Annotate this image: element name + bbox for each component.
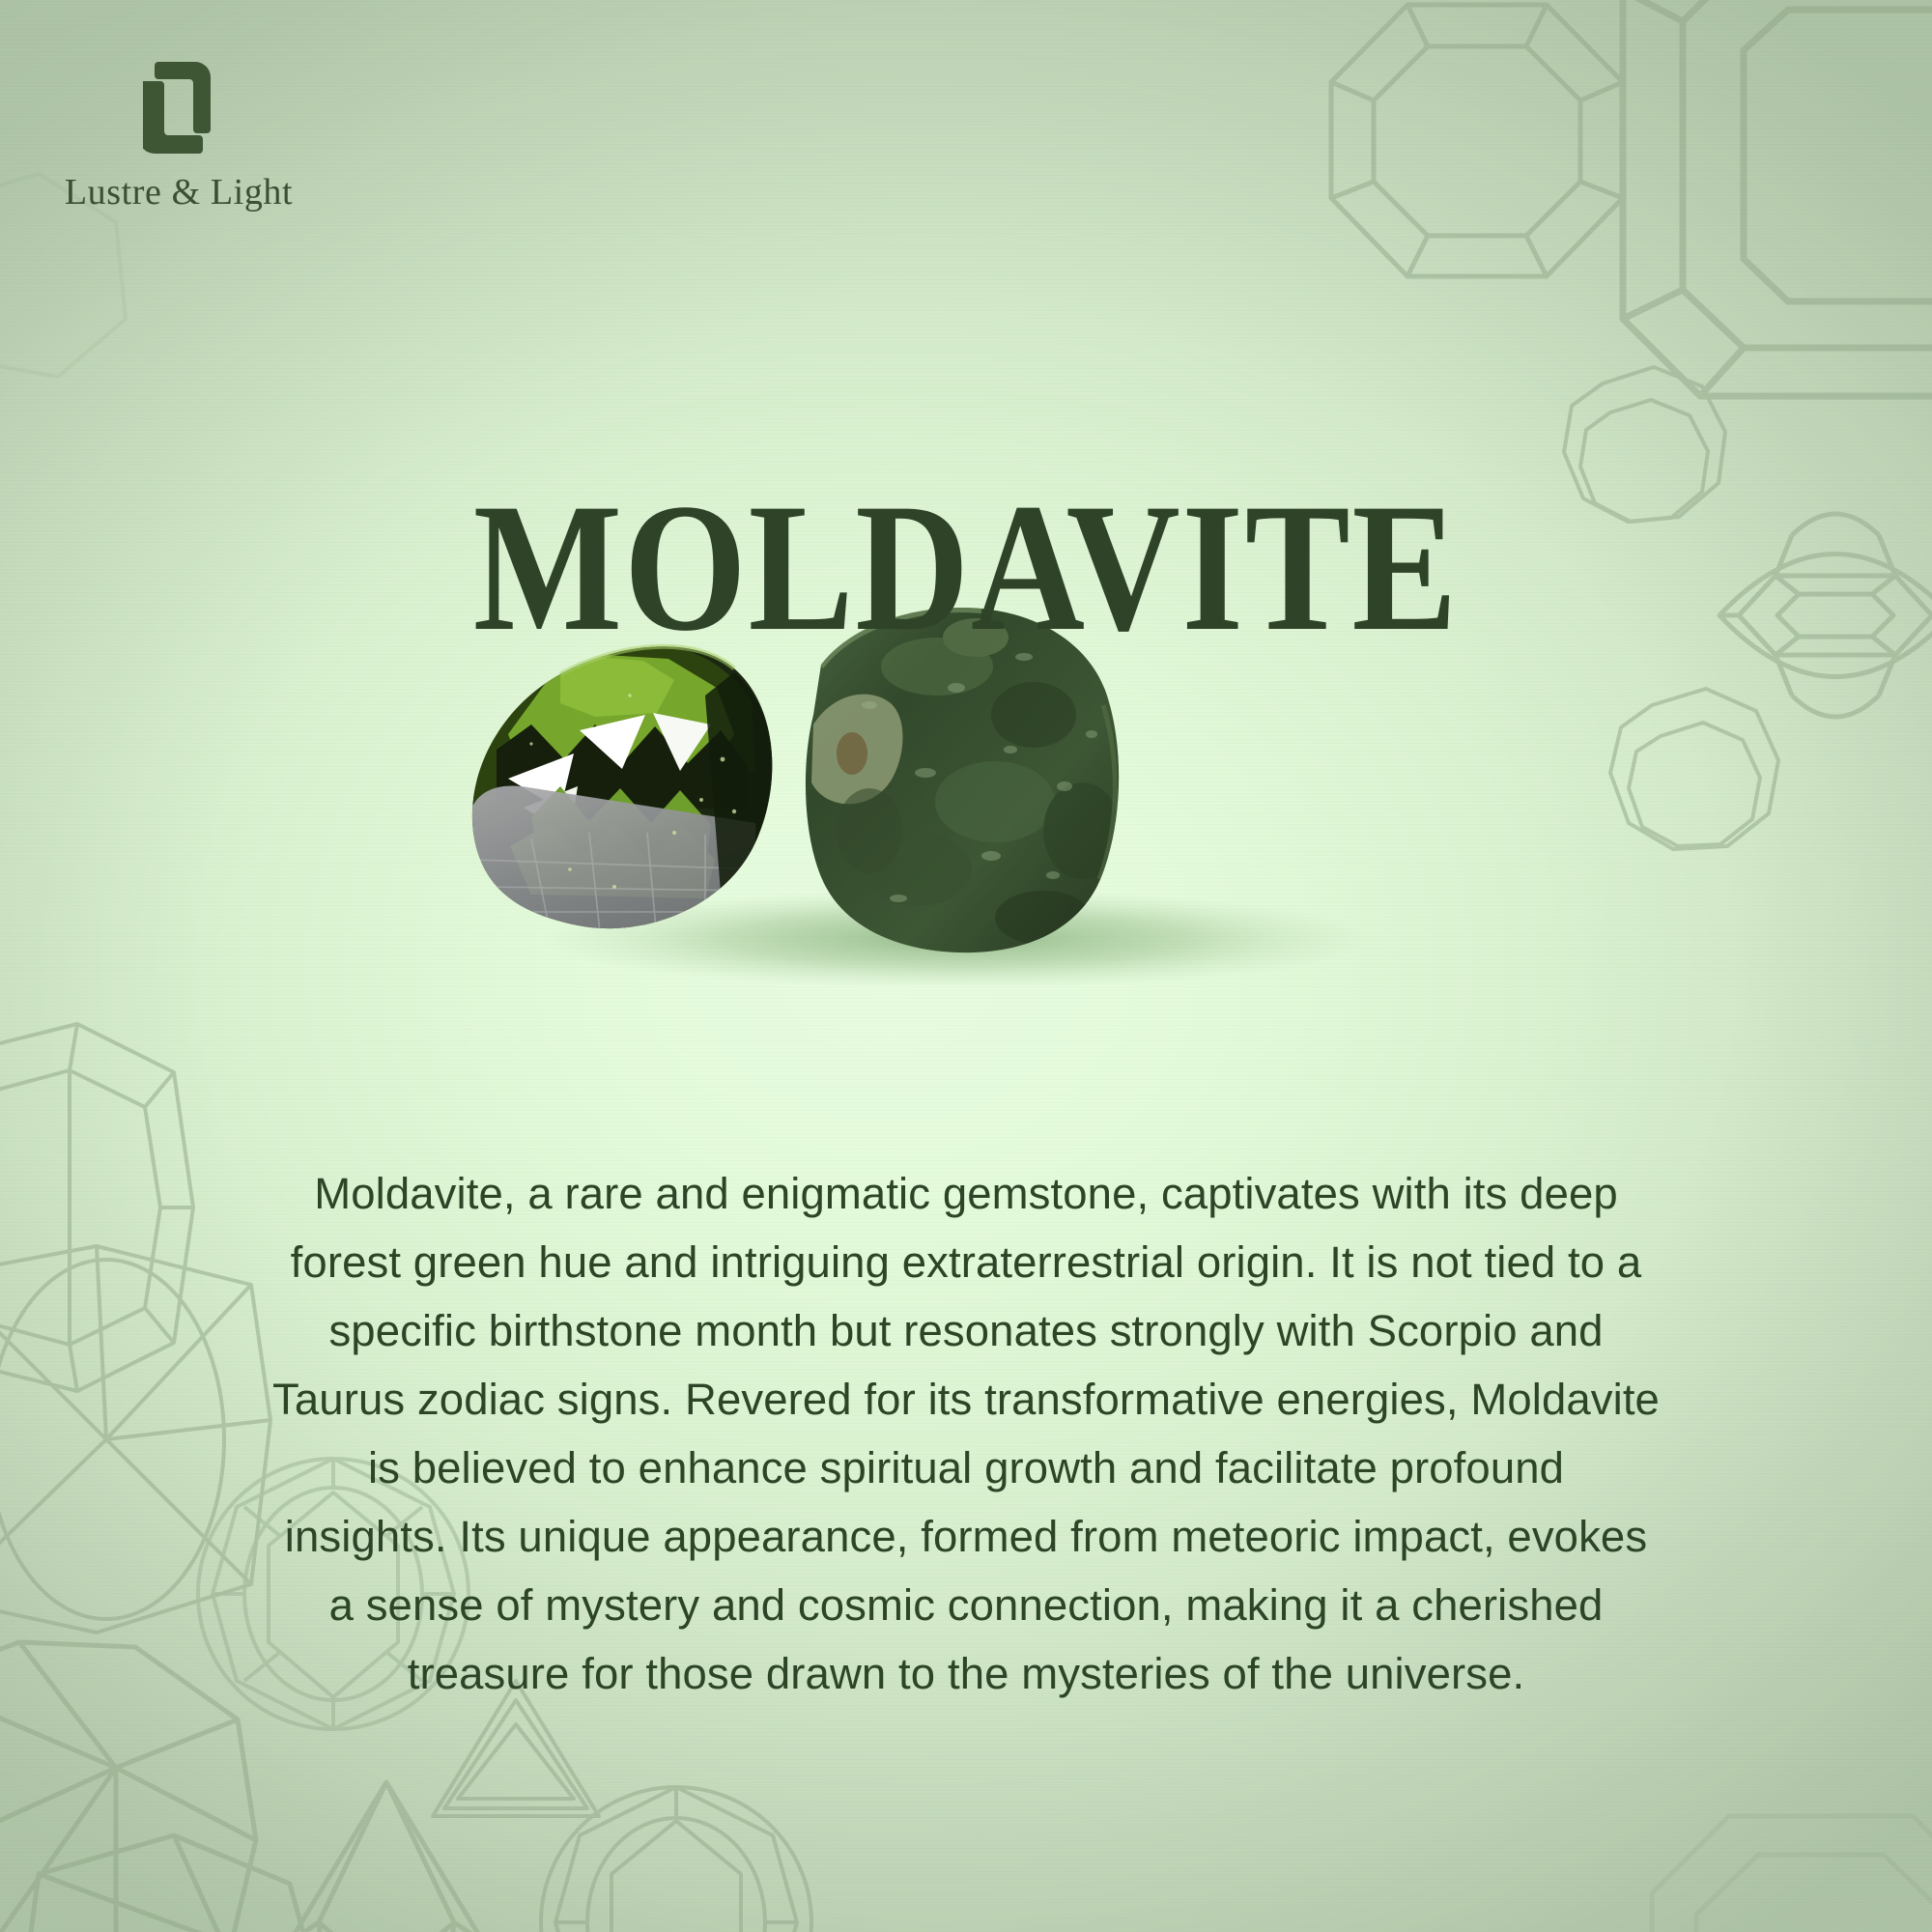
page-title: MOLDAVITE: [135, 476, 1797, 660]
description-paragraph: Moldavite, a rare and enigmatic gemstone…: [97, 1159, 1835, 1708]
poster-canvas: Lustre & Light MOLDAVITE: [0, 0, 1932, 1932]
description-line: Taurus zodiac signs. Revered for its tra…: [97, 1365, 1835, 1434]
description-line: a sense of mystery and cosmic connection…: [97, 1571, 1835, 1639]
lustre-light-monogram-icon: [143, 56, 218, 157]
description-line: treasure for those drawn to the mysterie…: [97, 1639, 1835, 1708]
pear-cut-outline-icon: [290, 1782, 483, 1932]
description-line: is believed to enhance spiritual growth …: [97, 1434, 1835, 1502]
emerald-cut-outline-icon: [1652, 1816, 1932, 1932]
round-brilliant-outline-icon: [541, 1787, 811, 1932]
description-line: insights. Its unique appearance, formed …: [97, 1502, 1835, 1571]
description-line: specific birthstone month but resonates …: [97, 1296, 1835, 1365]
rough-crystal-outline-icon: [19, 1835, 319, 1932]
description-line: forest green hue and intriguing extrater…: [97, 1228, 1835, 1296]
brand-name: Lustre & Light: [58, 171, 299, 213]
octagon-cut-outline-icon: [1331, 5, 1623, 276]
brand-logo[interactable]: Lustre & Light: [58, 56, 367, 213]
description-line: Moldavite, a rare and enigmatic gemstone…: [97, 1159, 1835, 1228]
decagon-cut-small-outline-icon: [1610, 689, 1778, 849]
emerald-cut-outline-icon: [1623, 0, 1932, 396]
